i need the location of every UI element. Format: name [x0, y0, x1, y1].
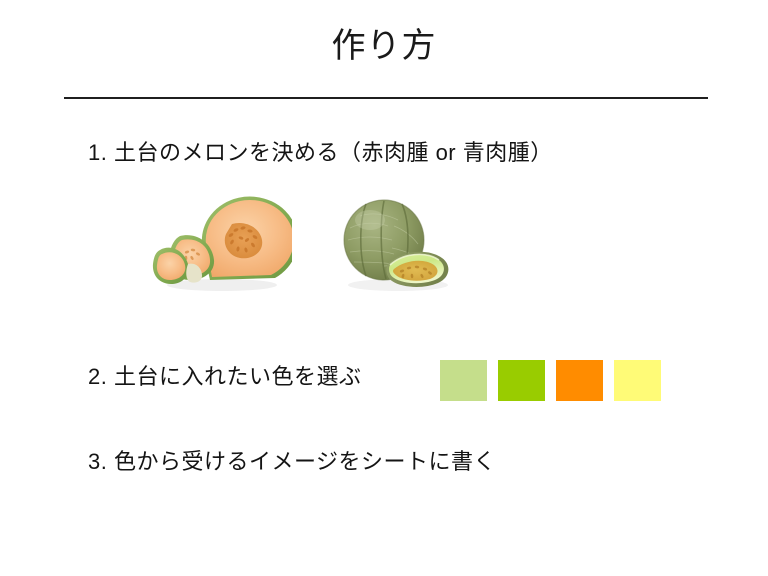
- step-item-1: 1. 土台のメロンを決める（赤肉腫 or 青肉腫）: [88, 138, 553, 168]
- color-swatch-row: [440, 360, 661, 401]
- swatch-light-yellow[interactable]: [614, 360, 661, 401]
- slide: 作り方 1. 土台のメロンを決める（赤肉腫 or 青肉腫）: [0, 0, 768, 576]
- step-item-3: 3. 色から受けるイメージをシートに書く: [88, 447, 496, 477]
- title-divider: [64, 97, 708, 99]
- red-flesh-melon-photo: [140, 192, 292, 294]
- swatch-light-yellow-green[interactable]: [440, 360, 487, 401]
- swatch-bright-green[interactable]: [498, 360, 545, 401]
- swatch-orange[interactable]: [556, 360, 603, 401]
- step-item-2: 2. 土台に入れたい色を選ぶ: [88, 362, 361, 392]
- page-title: 作り方: [0, 26, 768, 66]
- green-flesh-melon-photo: [332, 192, 464, 294]
